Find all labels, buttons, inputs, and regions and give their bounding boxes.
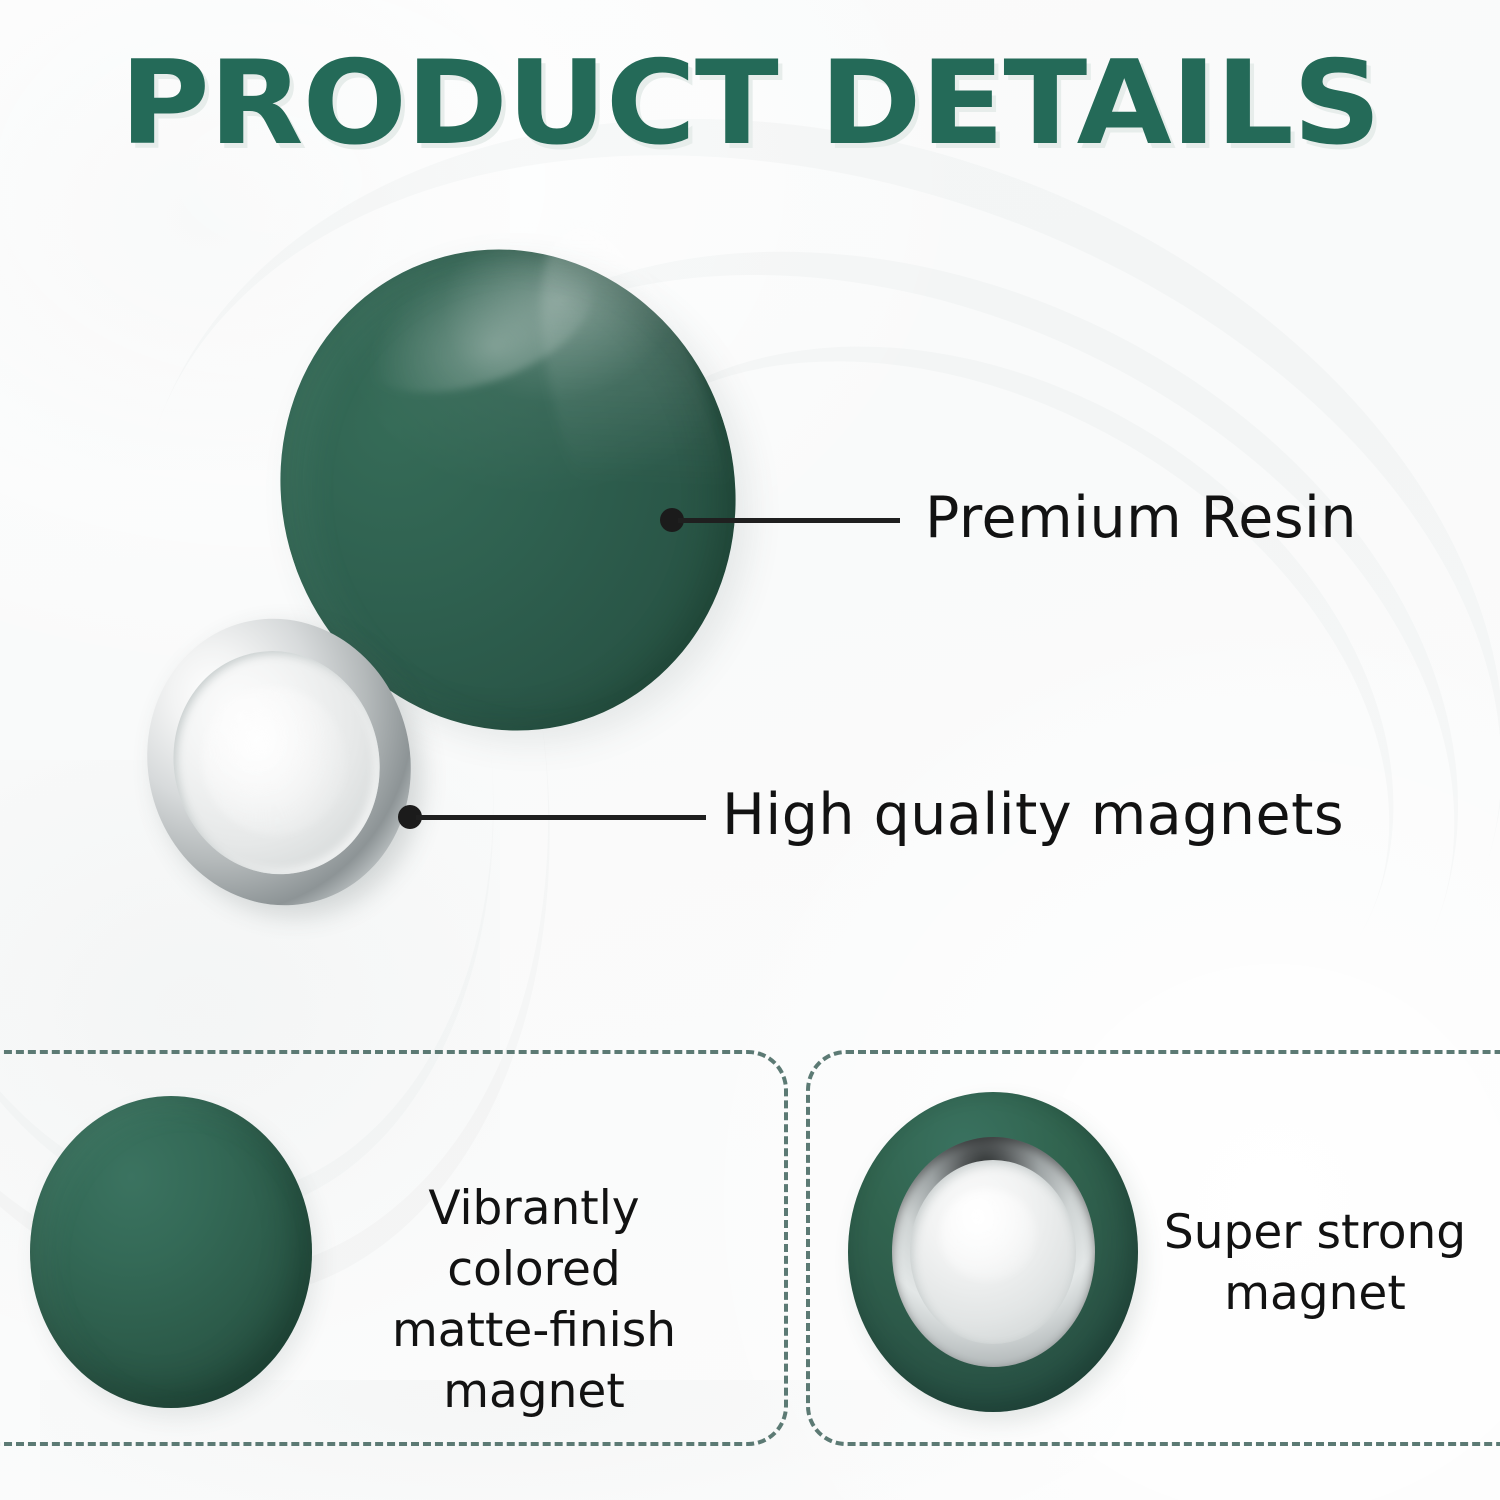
feature-caption-matte-finish: Vibrantly colored matte-finish magnet — [338, 1178, 730, 1422]
feature-caption-line: Vibrantly colored — [338, 1178, 730, 1300]
feature-caption-line: Super strong — [1150, 1202, 1480, 1263]
green-matte-sphere — [30, 1096, 312, 1408]
magnet-chrome-rim — [892, 1137, 1095, 1367]
product-details-infographic: PRODUCT DETAILS Premium Resin High quali… — [0, 0, 1500, 1500]
feature-caption-super-strong: Super strong magnet — [1150, 1202, 1480, 1324]
feature-caption-line: matte-finish — [338, 1300, 730, 1361]
magnet-chrome-face — [910, 1160, 1076, 1344]
callout-line-high-quality-magnets — [416, 815, 706, 820]
chrome-magnet-core-highlight — [187, 672, 362, 850]
feature-caption-line: magnet — [338, 1361, 730, 1422]
callout-line-premium-resin — [678, 518, 900, 523]
callout-label-high-quality-magnets: High quality magnets — [722, 787, 1344, 844]
callout-label-premium-resin: Premium Resin — [925, 490, 1357, 547]
feature-caption-line: magnet — [1150, 1263, 1480, 1324]
chrome-magnet-inner-face — [150, 629, 403, 896]
magnet-chrome-gloss — [940, 1189, 1037, 1281]
page-title: PRODUCT DETAILS — [0, 46, 1500, 162]
green-rim-chrome-magnet — [848, 1092, 1138, 1412]
